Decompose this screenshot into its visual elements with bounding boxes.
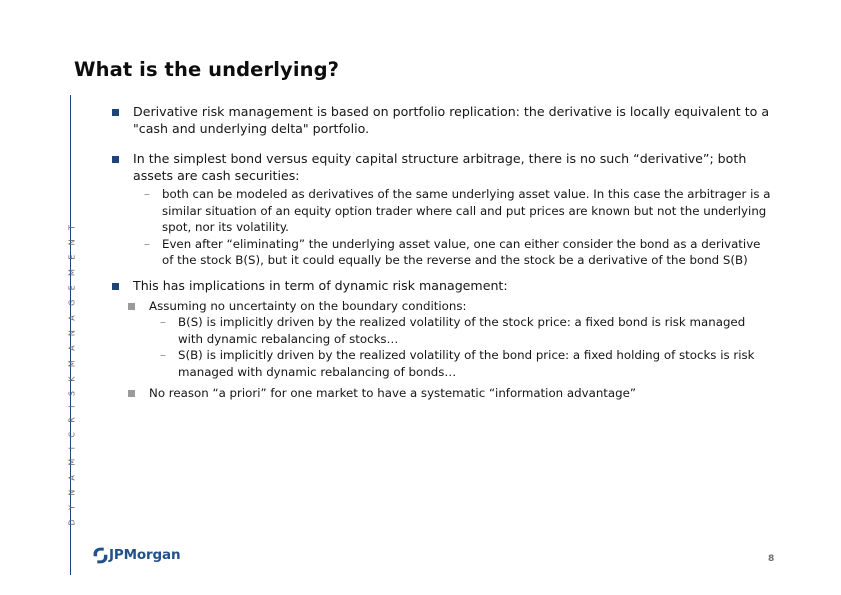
dash-bullet-icon: –: [160, 314, 166, 330]
jpmorgan-logo: JPMorgan: [92, 547, 180, 564]
sidebar-vertical-caption: D Y N A M I C R I S K M A N A G E M E N …: [68, 296, 77, 526]
dash-text: S(B) is implicitly driven by the realize…: [178, 348, 755, 378]
spacer: [112, 268, 772, 278]
bullet-item-2: In the simplest bond versus equity capit…: [112, 151, 772, 184]
bullet-text: This has implications in term of dynamic…: [133, 278, 508, 293]
sub-bullet-text: Assuming no uncertainty on the boundary …: [149, 299, 466, 313]
bullet-text: In the simplest bond versus equity capit…: [133, 151, 746, 183]
dash-item-2-1: – both can be modeled as derivatives of …: [144, 186, 772, 235]
square-bullet-icon: [128, 390, 135, 397]
square-bullet-icon: [112, 283, 119, 290]
jpmorgan-mark-icon: [92, 547, 109, 564]
jpmorgan-wordmark: JPMorgan: [109, 549, 180, 563]
dash-text: both can be modeled as derivatives of th…: [162, 187, 771, 234]
sub-bullet-text: No reason “a priori” for one market to h…: [149, 386, 636, 400]
square-bullet-icon: [128, 303, 135, 310]
sub-bullet-3-1: Assuming no uncertainty on the boundary …: [128, 298, 772, 314]
sub-bullet-3-2: No reason “a priori” for one market to h…: [128, 385, 772, 401]
page-number: 8: [768, 554, 774, 564]
bullet-text: Derivative risk management is based on p…: [133, 104, 769, 136]
square-bullet-icon: [112, 156, 119, 163]
page-title: What is the underlying?: [74, 58, 339, 81]
dash-item-3-1-1: – B(S) is implicitly driven by the reali…: [160, 314, 772, 347]
dash-item-2-2: – Even after “eliminating” the underlyin…: [144, 236, 772, 269]
slide-body: Derivative risk management is based on p…: [112, 104, 772, 401]
presentation-slide: What is the underlying? D Y N A M I C R …: [0, 0, 841, 595]
dash-text: B(S) is implicitly driven by the realize…: [178, 315, 745, 345]
bullet-item-3: This has implications in term of dynamic…: [112, 278, 772, 295]
dash-item-3-1-2: – S(B) is implicitly driven by the reali…: [160, 347, 772, 380]
dash-bullet-icon: –: [144, 186, 150, 202]
dash-bullet-icon: –: [160, 347, 166, 363]
bullet-item-1: Derivative risk management is based on p…: [112, 104, 772, 137]
dash-bullet-icon: –: [144, 236, 150, 252]
dash-text: Even after “eliminating” the underlying …: [162, 237, 760, 267]
square-bullet-icon: [112, 109, 119, 116]
